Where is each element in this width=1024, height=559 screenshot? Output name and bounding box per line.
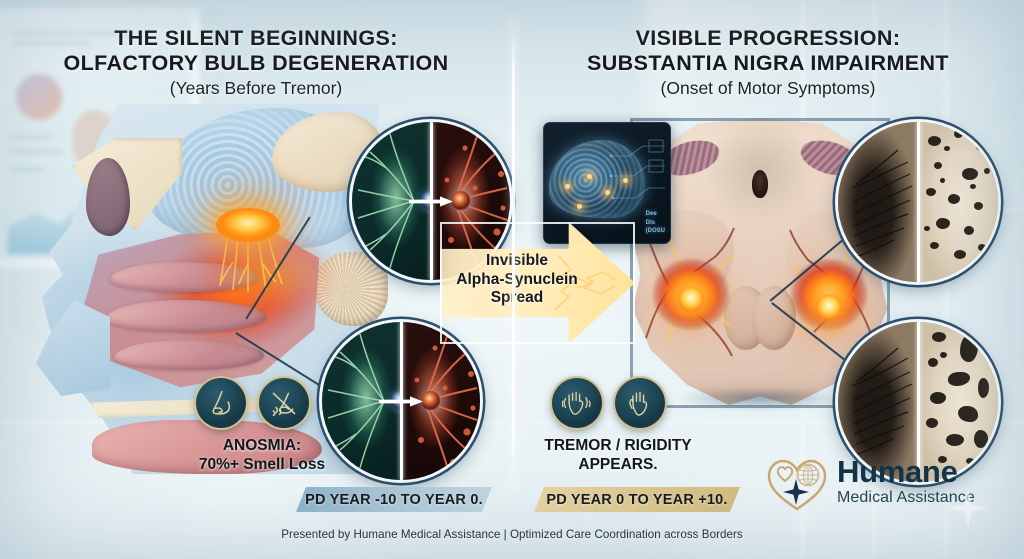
sparkle-icon <box>946 486 990 530</box>
infographic-canvas: Dee Dis (DOSU <box>0 0 1024 559</box>
left-title-line1: THE SILENT BEGINNINGS: <box>8 26 504 51</box>
anosmia-label: ANOSMIA: 70%+ Smell Loss <box>186 437 338 475</box>
left-title-line2: OLFACTORY BULB DEGENERATION <box>8 51 504 76</box>
nose-glyph <box>206 388 236 418</box>
depigmented-tissue-half <box>918 122 998 282</box>
rigid-hand-icon[interactable] <box>615 378 665 428</box>
heart-globe-star-icon <box>766 455 828 513</box>
tremor-icon-row <box>552 378 684 428</box>
timeline-badge-left[interactable]: PD YEAR -10 TO YEAR 0. <box>296 487 492 512</box>
brand-name: Humane <box>837 457 975 486</box>
neuron-soma-degenerated <box>421 391 440 410</box>
panel-divider <box>512 18 515 488</box>
tremor-symptom-block: TREMOR / RIGIDITY APPEARS. <box>552 378 684 475</box>
nose-icon[interactable] <box>196 378 246 428</box>
trembling-hand-icon[interactable] <box>552 378 602 428</box>
inset-caption: Dee Dis (DOSU <box>646 210 665 236</box>
inset-caption-line1: Dee <box>646 210 665 219</box>
olfactory-bulb <box>216 208 280 242</box>
right-panel-title: VISIBLE PROGRESSION: SUBSTANTIA NIGRA IM… <box>520 26 1016 99</box>
no-smell-glyph <box>269 388 299 418</box>
split-divider <box>917 122 920 282</box>
timeline-badge-right[interactable]: PD YEAR 0 TO YEAR +10. <box>534 487 740 512</box>
tremor-label: TREMOR / RIGIDITY APPEARS. <box>533 437 703 475</box>
left-title-subtitle: (Years Before Tremor) <box>8 78 504 99</box>
anosmia-icon-row <box>196 378 328 428</box>
nose-no-smell-icon[interactable] <box>259 378 309 428</box>
inset-caption-line3: (DOSU <box>646 227 665 236</box>
pigment-fibers <box>838 122 918 282</box>
pigmented-tissue-half <box>838 122 918 282</box>
neuron-soma-degenerated <box>451 191 470 210</box>
callout-neuron-degeneration-bottom[interactable] <box>322 322 480 480</box>
tremor-label-line1: TREMOR / RIGIDITY <box>533 437 703 456</box>
alpha-synuclein-spread-arrow[interactable]: Invisible Alpha-Synuclein Spread <box>440 222 635 344</box>
right-title-subtitle: (Onset of Motor Symptoms) <box>520 78 1016 99</box>
inset-caption-line2: Dis <box>646 219 665 228</box>
trembling-hand-glyph <box>562 388 592 418</box>
brand-logo[interactable]: Humane Medical Assistance <box>766 455 975 513</box>
arrow-label: Invisible Alpha-Synuclein Spread <box>454 252 580 308</box>
callout-substantia-nigra-tissue-top[interactable] <box>838 122 998 282</box>
left-panel-title: THE SILENT BEGINNINGS: OLFACTORY BULB DE… <box>8 26 504 99</box>
footer-credit: Presented by Humane Medical Assistance |… <box>0 528 1024 541</box>
arrow-label-line1: Invisible <box>454 252 580 271</box>
anosmia-label-line1: ANOSMIA: <box>186 437 338 456</box>
arrow-label-line2: Alpha-Synuclein <box>454 271 580 290</box>
transition-arrow-icon <box>409 196 453 207</box>
anosmia-symptom-block: ANOSMIA: 70%+ Smell Loss <box>196 378 328 475</box>
transition-arrow-icon <box>379 396 423 407</box>
anosmia-label-line2: 70%+ Smell Loss <box>186 456 338 475</box>
arrow-label-line3: Spread <box>454 289 580 308</box>
tremor-label-line2: APPEARS. <box>533 456 703 475</box>
rigid-hand-glyph <box>625 388 655 418</box>
right-title-line1: VISIBLE PROGRESSION: <box>520 26 1016 51</box>
right-title-line2: SUBSTANTIA NIGRA IMPAIRMENT <box>520 51 1016 76</box>
